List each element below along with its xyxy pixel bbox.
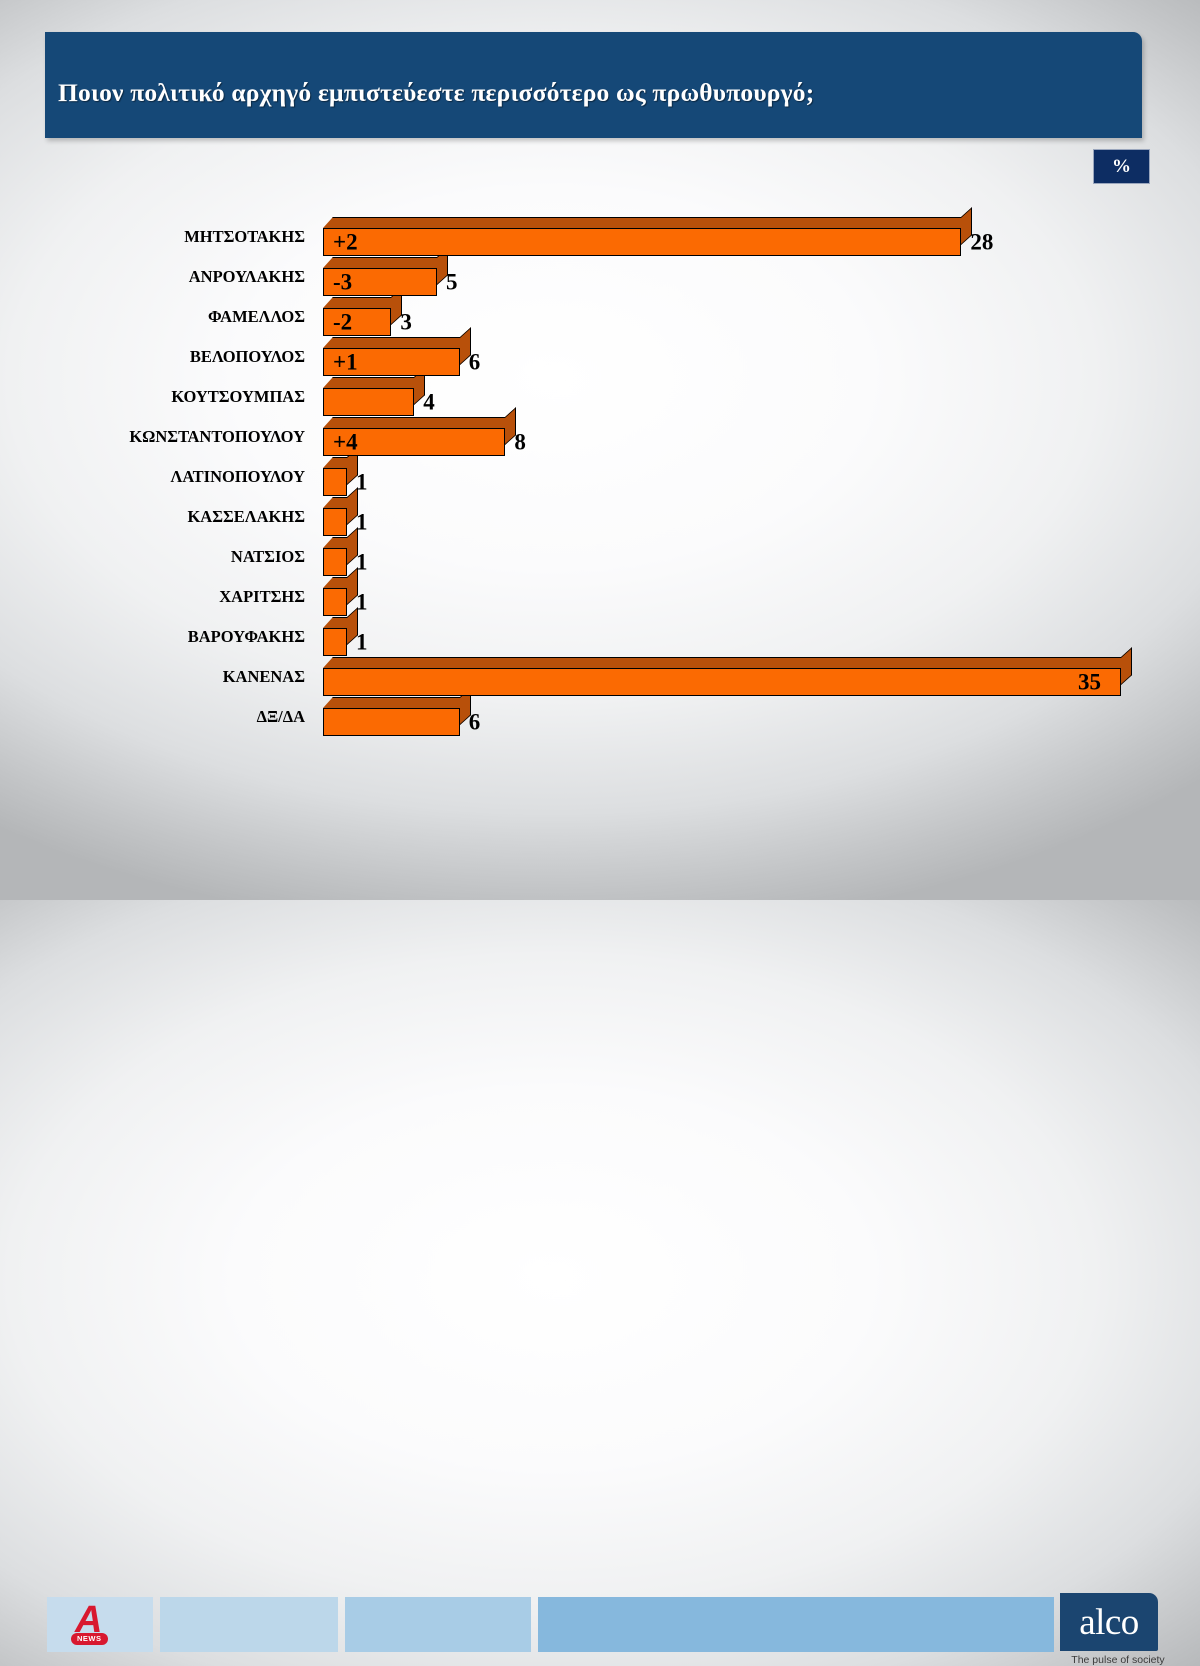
bar-value-label: 28	[970, 231, 993, 254]
alpha-news-badge: NEWS	[71, 1633, 108, 1645]
bar: 1	[323, 588, 347, 616]
bar-delta-label: +2	[333, 231, 358, 254]
bar-value-label: 35	[1078, 671, 1101, 694]
category-label: ΑΝΡΟΥΛΑΚΗΣ	[40, 267, 305, 287]
bar-value-label: 6	[469, 351, 481, 374]
chart-row: ΝΑΤΣΙΟΣ1	[0, 542, 1200, 582]
category-label: ΒΑΡΟΥΦΑΚΗΣ	[40, 627, 305, 647]
bar: -23	[323, 308, 391, 336]
bar-delta-label: +4	[333, 431, 358, 454]
chart-row: ΒΕΛΟΠΟΥΛΟΣ+16	[0, 342, 1200, 382]
bar: +16	[323, 348, 460, 376]
category-label: ΚΟΥΤΣΟΥΜΠΑΣ	[40, 387, 305, 407]
chart-row: ΚΑΣΣΕΛΑΚΗΣ1	[0, 502, 1200, 542]
bar-delta-label: -3	[333, 271, 352, 294]
category-label: ΜΗΤΣΟΤΑΚΗΣ	[40, 227, 305, 247]
bar-front-face	[323, 548, 347, 576]
chart-row: ΜΗΤΣΟΤΑΚΗΣ+228	[0, 222, 1200, 262]
bar-top-face	[323, 377, 424, 388]
bar-top-face	[323, 297, 401, 308]
bar: 1	[323, 628, 347, 656]
bar-top-face	[323, 217, 971, 228]
chart-row: ΒΑΡΟΥΦΑΚΗΣ1	[0, 622, 1200, 662]
chart-row: ΦΑΜΕΛΛΟΣ-23	[0, 302, 1200, 342]
category-label: ΦΑΜΕΛΛΟΣ	[40, 307, 305, 327]
bar-front-face	[323, 388, 414, 416]
percent-unit-badge: %	[1093, 149, 1150, 184]
bar: 1	[323, 548, 347, 576]
bar: 6	[323, 708, 460, 736]
chart-row: ΚΟΥΤΣΟΥΜΠΑΣ4	[0, 382, 1200, 422]
chart-row: ΑΝΡΟΥΛΑΚΗΣ-35	[0, 262, 1200, 302]
title-band: Ποιον πολιτικό αρχηγό εμπιστεύεστε περισ…	[45, 32, 1142, 138]
alpha-news-logo: Α NEWS	[47, 1597, 153, 1652]
footer: Α NEWS alco The pulse of society	[0, 782, 1200, 900]
chart-row: ΧΑΡΙΤΣΗΣ1	[0, 582, 1200, 622]
alco-logo: alco	[1060, 1593, 1158, 1651]
percent-unit-label: %	[1112, 157, 1131, 176]
category-label: ΚΑΣΣΕΛΑΚΗΣ	[40, 507, 305, 527]
chart-row: ΔΞ/ΔΑ6	[0, 702, 1200, 742]
category-label: ΚΑΝΕΝΑΣ	[40, 667, 305, 687]
bar-value-label: 1	[356, 471, 368, 494]
bar-value-label: 1	[356, 631, 368, 654]
bar: -35	[323, 268, 437, 296]
alco-tagline: The pulse of society	[1063, 1654, 1173, 1666]
bar-front-face	[323, 588, 347, 616]
bar-front-face	[323, 228, 961, 256]
category-label: ΧΑΡΙΤΣΗΣ	[40, 587, 305, 607]
bar-value-label: 3	[400, 311, 412, 334]
bar-front-face	[323, 708, 460, 736]
chart-row: ΚΑΝΕΝΑΣ35	[0, 662, 1200, 702]
footer-block-3	[345, 1597, 531, 1652]
category-label: ΛΑΤΙΝΟΠΟΥΛΟΥ	[40, 467, 305, 487]
bar-top-face	[323, 417, 515, 428]
category-label: ΚΩΝΣΤΑΝΤΟΠΟΥΛΟΥ	[40, 427, 305, 447]
bar-delta-label: -2	[333, 311, 352, 334]
bar-top-face	[323, 697, 470, 708]
bar-front-face	[323, 468, 347, 496]
bar-value-label: 1	[356, 591, 368, 614]
category-label: ΒΕΛΟΠΟΥΛΟΣ	[40, 347, 305, 367]
bar: +228	[323, 228, 961, 256]
chart-row: ΛΑΤΙΝΟΠΟΥΛΟΥ1	[0, 462, 1200, 502]
page-title: Ποιον πολιτικό αρχηγό εμπιστεύεστε περισ…	[45, 78, 814, 108]
bar-chart: ΜΗΤΣΟΤΑΚΗΣ+228ΑΝΡΟΥΛΑΚΗΣ-35ΦΑΜΕΛΛΟΣ-23ΒΕ…	[0, 222, 1200, 762]
category-label: ΝΑΤΣΙΟΣ	[40, 547, 305, 567]
bar-delta-label: +1	[333, 351, 358, 374]
bar-value-label: 5	[446, 271, 458, 294]
bar-value-label: 8	[514, 431, 526, 454]
bar-front-face	[323, 628, 347, 656]
bar: 4	[323, 388, 414, 416]
bar-value-label: 4	[423, 391, 435, 414]
bar-value-label: 1	[356, 551, 368, 574]
chart-row: ΚΩΝΣΤΑΝΤΟΠΟΥΛΟΥ+48	[0, 422, 1200, 462]
bar-top-face	[323, 657, 1131, 668]
bar: 35	[323, 668, 1121, 696]
bar-top-face	[323, 337, 470, 348]
bar-front-face	[323, 508, 347, 536]
alco-wordmark: alco	[1079, 1604, 1139, 1641]
footer-block-4	[538, 1597, 1054, 1652]
bar: 1	[323, 468, 347, 496]
bar-value-label: 6	[469, 711, 481, 734]
bar-value-label: 1	[356, 511, 368, 534]
bar: 1	[323, 508, 347, 536]
category-label: ΔΞ/ΔΑ	[40, 707, 305, 727]
bar: +48	[323, 428, 505, 456]
bar-top-face	[323, 257, 447, 268]
footer-block-2	[160, 1597, 338, 1652]
bar-front-face	[323, 668, 1121, 696]
